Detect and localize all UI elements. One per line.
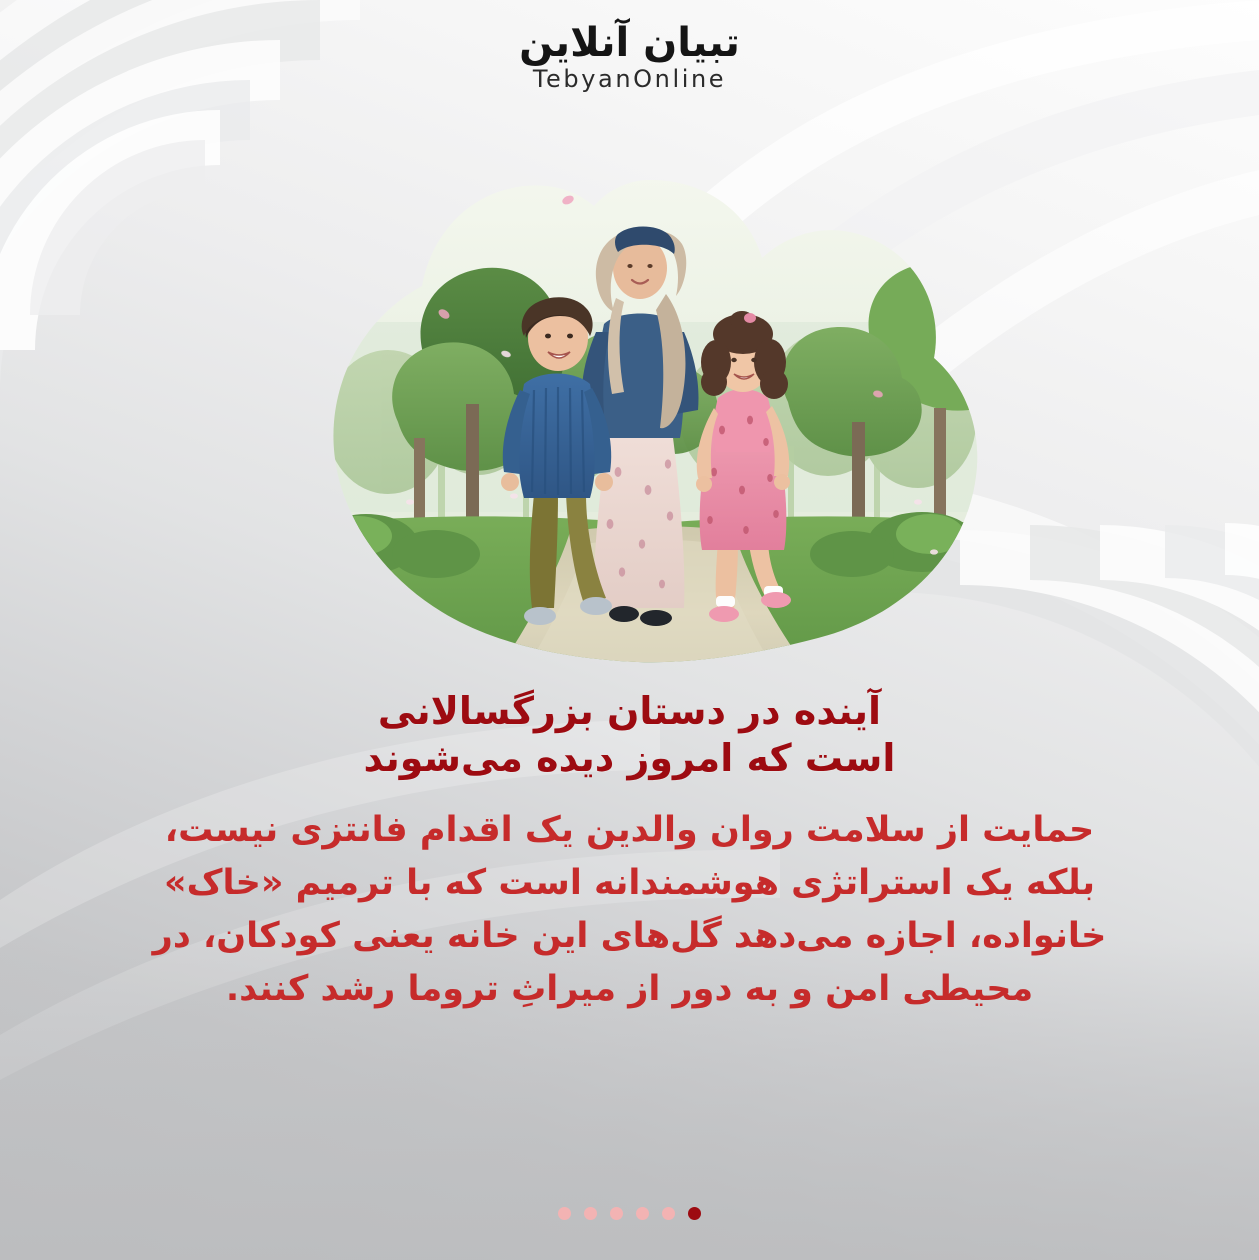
pagination-dot-5[interactable]: [662, 1207, 675, 1220]
pagination-dot-6[interactable]: [688, 1207, 701, 1220]
social-card: تبیان آنلاین TebyanOnline: [0, 0, 1259, 1260]
pagination-dot-4[interactable]: [636, 1207, 649, 1220]
brand-logo: تبیان آنلاین TebyanOnline: [0, 22, 1259, 92]
page-title: آینده در دستان بزرگسالانی است که امروز د…: [310, 688, 950, 782]
brand-logo-latin: TebyanOnline: [533, 66, 726, 92]
pagination-dot-2[interactable]: [584, 1207, 597, 1220]
headline-line-2: است که امروز دیده می‌شوند: [310, 735, 950, 782]
brand-logo-persian: تبیان آنلاین: [519, 22, 740, 64]
illustration-cloud: [318, 172, 982, 684]
body-paragraph: حمایت از سلامت روان والدین یک اقدام فانت…: [150, 804, 1110, 1016]
pagination-dot-3[interactable]: [610, 1207, 623, 1220]
headline-line-1: آینده در دستان بزرگسالانی: [378, 689, 881, 733]
text-content: آینده در دستان بزرگسالانی است که امروز د…: [0, 688, 1259, 1016]
pagination-dot-1[interactable]: [558, 1207, 571, 1220]
body-copy: حمایت از سلامت روان والدین یک اقدام فانت…: [150, 804, 1110, 1016]
pagination-dots[interactable]: [0, 1207, 1259, 1220]
